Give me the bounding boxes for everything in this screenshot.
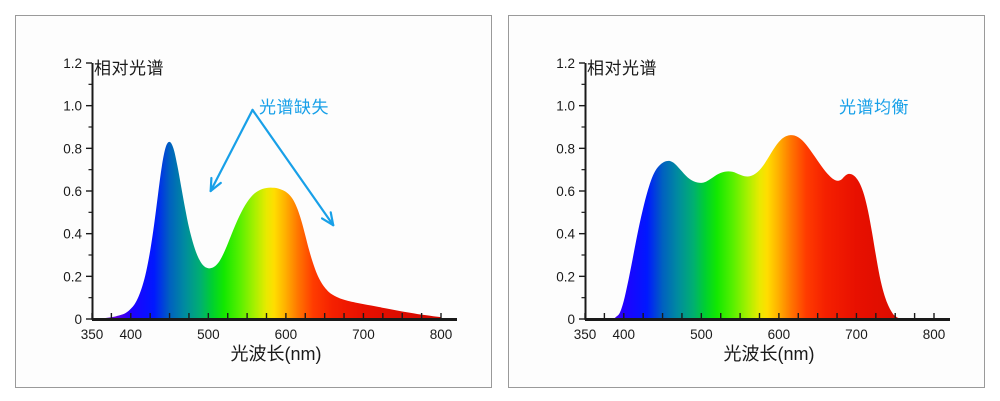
page-title: 相对光谱 xyxy=(587,54,657,79)
y-tick-label: 1.0 xyxy=(556,99,575,114)
chart-panel-left: 35040050060070080000.20.40.60.81.01.2 相对… xyxy=(15,15,492,388)
x-tick-label: 800 xyxy=(430,327,453,342)
y-tick-label: 0.8 xyxy=(556,141,575,156)
annotation-spectrum-gap: 光谱缺失 xyxy=(259,93,329,118)
y-tick-label: 0.2 xyxy=(556,269,575,284)
y-tick-label: 0.6 xyxy=(63,184,82,199)
spectrum-plot-left: 35040050060070080000.20.40.60.81.01.2 xyxy=(16,16,491,387)
x-axis-label: 光波长(nm) xyxy=(136,340,416,366)
x-tick-label: 350 xyxy=(574,327,597,342)
annotation-spectrum-balanced: 光谱均衡 xyxy=(839,93,909,118)
y-tick-label: 0.4 xyxy=(556,227,575,242)
y-tick-label: 0.8 xyxy=(63,141,82,156)
spectrum-plot-right: 35040050060070080000.20.40.60.81.01.2 xyxy=(509,16,984,387)
y-tick-label: 1.0 xyxy=(63,99,82,114)
annotation-arrow-head xyxy=(211,178,212,191)
x-axis-label: 光波长(nm) xyxy=(629,340,909,366)
figure-root: 35040050060070080000.20.40.60.81.01.2 相对… xyxy=(0,0,1000,401)
y-tick-label: 0.2 xyxy=(63,269,82,284)
chart-panel-right: 35040050060070080000.20.40.60.81.01.2 相对… xyxy=(508,15,985,388)
y-tick-label: 1.2 xyxy=(63,56,82,71)
spectrum-area xyxy=(585,135,934,319)
annotation-arrow-line xyxy=(211,110,253,191)
y-tick-label: 0.4 xyxy=(63,227,82,242)
spectrum-area xyxy=(92,142,441,319)
y-tick-label: 0 xyxy=(74,312,82,327)
x-tick-label: 800 xyxy=(923,327,946,342)
page-title: 相对光谱 xyxy=(94,54,164,79)
y-tick-label: 1.2 xyxy=(556,56,575,71)
y-tick-label: 0 xyxy=(567,312,575,327)
y-tick-label: 0.6 xyxy=(556,184,575,199)
x-tick-label: 350 xyxy=(81,327,104,342)
